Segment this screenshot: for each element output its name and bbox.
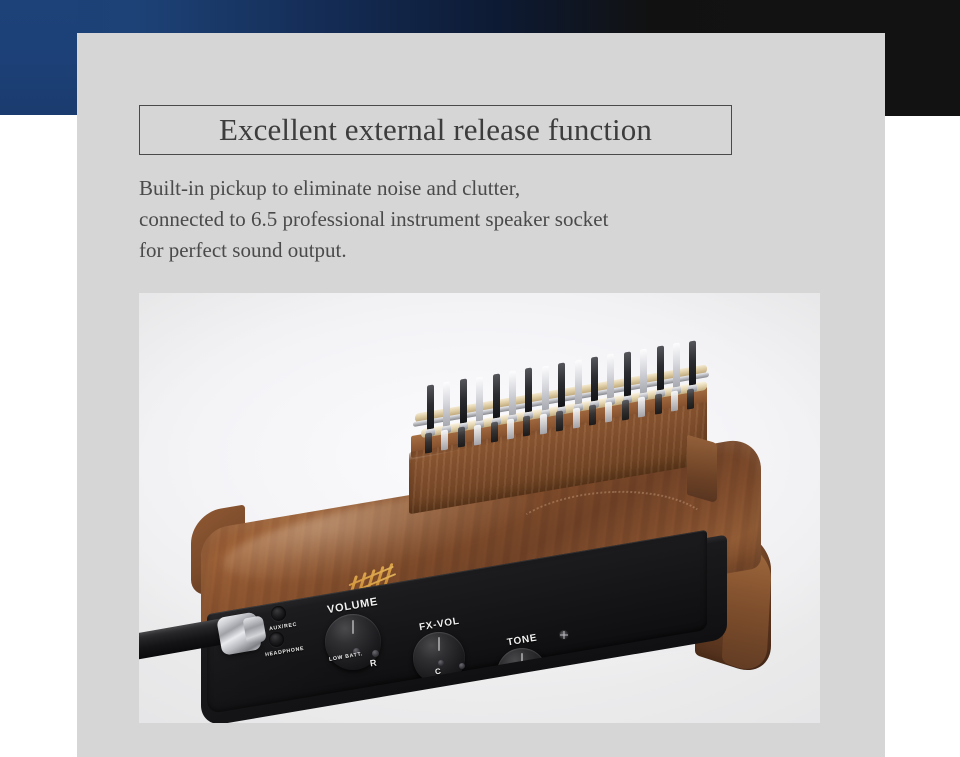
kalimba-tine (542, 365, 549, 410)
kalimba-tine (689, 340, 696, 385)
kalimba-tine-lower (540, 413, 547, 434)
kalimba-tine-lower (556, 410, 563, 431)
kalimba-tine-lower (655, 393, 662, 414)
quarter-inch-plug (208, 607, 267, 659)
kalimba-tine-lower (441, 430, 448, 451)
kalimba-tine-lower (605, 402, 612, 423)
kalimba-tine-lower (671, 391, 678, 412)
description-line-2: connected to 6.5 professional instrument… (139, 204, 839, 235)
description-line-3: for perfect sound output. (139, 235, 839, 266)
kalimba-tine-lower (507, 419, 514, 440)
plug-tip (243, 615, 267, 644)
product-photo: VOLUME FX-VOL TONE AUX/REC HEADPHONE LOW… (139, 293, 820, 723)
kalimba-tine (509, 371, 516, 416)
kalimba-tine (460, 379, 467, 424)
kalimba-tine (607, 354, 614, 399)
kalimba-tine-lower (622, 399, 629, 420)
kalimba-tine (443, 382, 450, 427)
left-navy-block (0, 0, 78, 115)
kalimba-tine (476, 376, 483, 421)
description-line-1: Built-in pickup to eliminate noise and c… (139, 173, 839, 204)
kalimba-tine (673, 343, 680, 388)
kalimba-tine-lower (491, 421, 498, 442)
section-heading-text: Excellent external release function (219, 112, 652, 148)
kalimba-tine (558, 362, 565, 407)
content-card: Excellent external release function Buil… (77, 33, 885, 757)
tine-group (139, 293, 820, 723)
kalimba-tine (657, 345, 664, 390)
kalimba-tine (591, 357, 598, 402)
kalimba-tine-lower (474, 424, 481, 445)
kalimba-tine-lower (573, 407, 580, 428)
kalimba-tine-lower (638, 396, 645, 417)
kalimba-tine-lower (458, 427, 465, 448)
kalimba-tine (427, 384, 434, 429)
kalimba-tine-lower (687, 388, 694, 409)
section-heading-box: Excellent external release function (139, 105, 732, 155)
section-description: Built-in pickup to eliminate noise and c… (139, 173, 839, 266)
page-root: Excellent external release function Buil… (0, 0, 960, 757)
kalimba-tine-lower (589, 405, 596, 426)
kalimba-tine (624, 351, 631, 396)
kalimba-instrument: VOLUME FX-VOL TONE AUX/REC HEADPHONE LOW… (139, 293, 820, 723)
kalimba-tine-lower (523, 416, 530, 437)
kalimba-tine (575, 359, 582, 404)
kalimba-tine (640, 348, 647, 393)
kalimba-tine-lower (425, 432, 432, 453)
top-gradient-band (0, 0, 960, 33)
right-black-block (885, 0, 960, 116)
kalimba-tine (525, 368, 532, 413)
kalimba-tine (493, 373, 500, 418)
